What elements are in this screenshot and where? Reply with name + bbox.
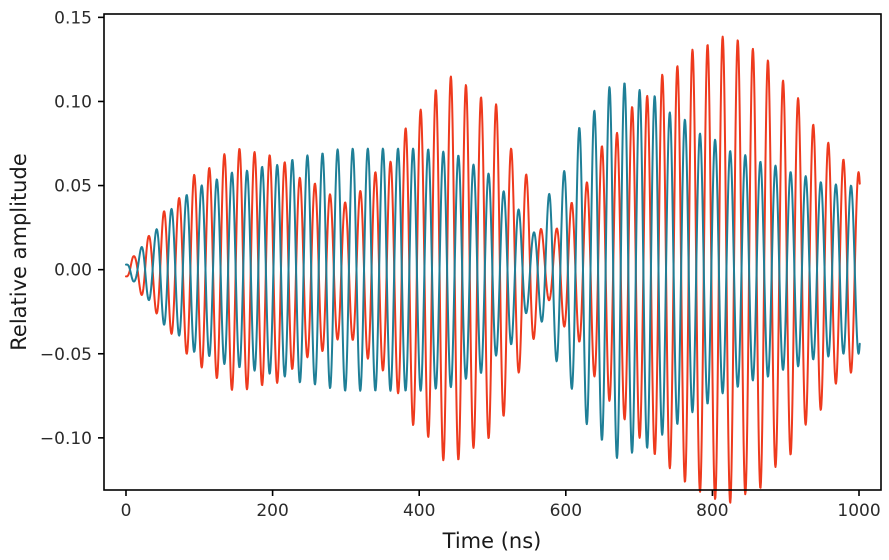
y-tick-label: 0.00 [54,261,92,281]
plot-svg: 02004006008001000 0.150.100.050.00−0.05−… [0,0,889,560]
y-tick-label: 0.10 [54,92,92,112]
x-tick-label: 1000 [837,501,880,521]
x-tick-label: 600 [550,501,582,521]
figure-canvas: 02004006008001000 0.150.100.050.00−0.05−… [0,0,889,560]
y-tick-label: −0.10 [40,429,92,449]
x-tick-label: 800 [696,501,728,521]
x-tick-label: 400 [403,501,435,521]
x-tick-label: 0 [121,501,132,521]
plot-area [104,14,881,503]
x-axis-ticks: 02004006008001000 [121,490,881,521]
y-tick-label: −0.05 [40,345,92,365]
x-axis-title: Time (ns) [442,529,542,553]
y-tick-label: 0.15 [54,8,92,28]
y-tick-label: 0.05 [54,177,92,197]
y-axis-title: Relative amplitude [7,153,31,350]
x-tick-label: 200 [256,501,288,521]
y-axis-ticks: 0.150.100.050.00−0.05−0.10 [40,8,104,448]
